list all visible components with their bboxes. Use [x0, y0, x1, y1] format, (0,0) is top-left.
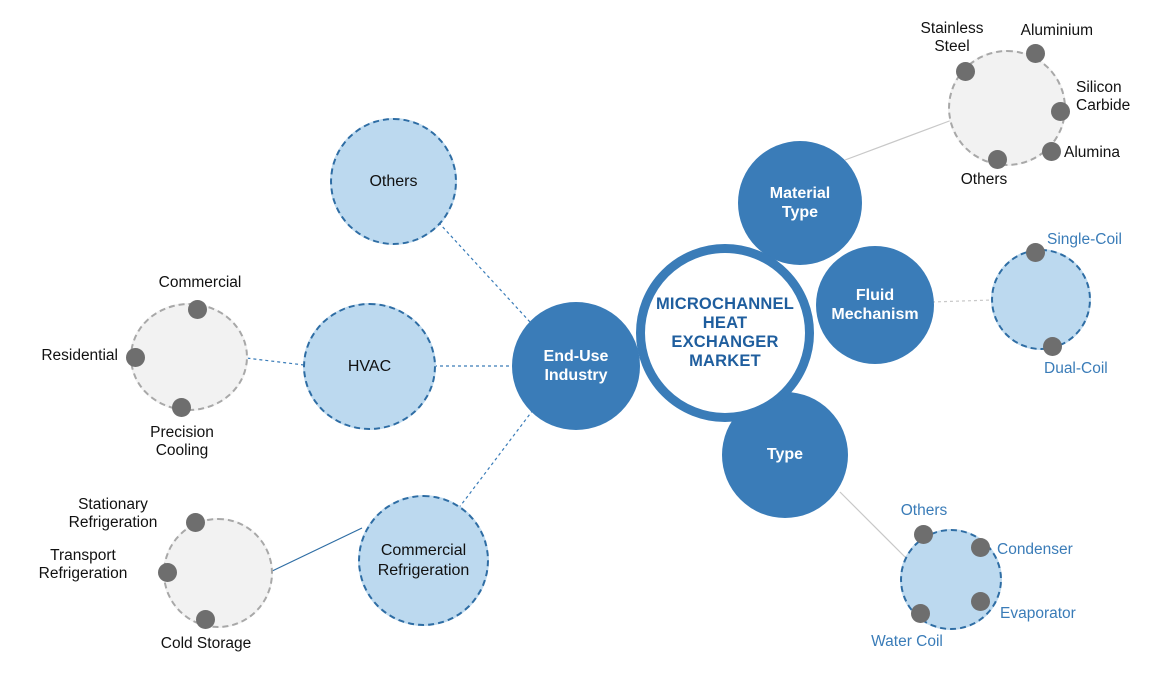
- leaf-dot-stainless-steel[interactable]: [956, 62, 975, 81]
- node-label-type: Type: [767, 445, 803, 464]
- leaf-label-cold-storage: Cold Storage: [146, 635, 266, 653]
- leaf-dot-silicon-carbide[interactable]: [1051, 102, 1070, 121]
- leaf-dot-condenser[interactable]: [971, 538, 990, 557]
- leaf-dot-water-coil[interactable]: [911, 604, 930, 623]
- leaf-dot-precision-cooling[interactable]: [172, 398, 191, 417]
- node-label-fluid-mechanism: Fluid Mechanism: [831, 286, 918, 324]
- leaf-label-precision-cooling: Precision Cooling: [132, 424, 232, 460]
- leaf-dot-aluminium[interactable]: [1026, 44, 1045, 63]
- leaf-dot-transport-refrigeration[interactable]: [158, 563, 177, 582]
- leaf-dot-stationary-refrigeration[interactable]: [186, 513, 205, 532]
- leaf-label-single-coil: Single-Coil: [1047, 231, 1157, 249]
- node-label-others-end-use: Others: [369, 172, 417, 192]
- edge-enduse-commercial-refrigeration: [455, 410, 533, 513]
- edge-material-cluster: [845, 120, 952, 160]
- leaf-dot-cold-storage[interactable]: [196, 610, 215, 629]
- edge-commercial-refrigeration-cluster: [268, 528, 362, 573]
- leaf-dot-commercial[interactable]: [188, 300, 207, 319]
- edge-enduse-others: [440, 224, 530, 322]
- leaf-label-material-others: Others: [934, 171, 1034, 189]
- leaf-dot-type-others[interactable]: [914, 525, 933, 544]
- leaf-label-residential: Residential: [18, 347, 118, 365]
- node-material-type[interactable]: Material Type: [738, 141, 862, 265]
- leaf-label-type-others: Others: [874, 502, 974, 520]
- leaf-label-transport-refrigeration: Transport Refrigeration: [14, 547, 152, 583]
- leaf-label-alumina: Alumina: [1064, 144, 1154, 162]
- leaf-dot-single-coil[interactable]: [1026, 243, 1045, 262]
- edge-fluid-cluster: [932, 300, 992, 302]
- node-others-end-use[interactable]: Others: [330, 118, 457, 245]
- leaf-dot-evaporator[interactable]: [971, 592, 990, 611]
- leaf-dot-material-others[interactable]: [988, 150, 1007, 169]
- hvac-cluster: [130, 303, 248, 411]
- node-end-use-industry[interactable]: End-Use Industry: [512, 302, 640, 430]
- leaf-label-silicon-carbide: Silicon Carbide: [1076, 79, 1168, 115]
- leaf-dot-alumina[interactable]: [1042, 142, 1061, 161]
- node-fluid-mechanism[interactable]: Fluid Mechanism: [816, 246, 934, 364]
- fluid-mechanism-cluster: [991, 249, 1091, 350]
- node-label-material-type: Material Type: [770, 184, 830, 222]
- leaf-dot-residential[interactable]: [126, 348, 145, 367]
- node-label-end-use-industry: End-Use Industry: [544, 347, 609, 385]
- node-label-commercial-refrigeration: Commercial Refrigeration: [378, 541, 470, 581]
- leaf-label-evaporator: Evaporator: [1000, 605, 1110, 623]
- node-commercial-refrigeration[interactable]: Commercial Refrigeration: [358, 495, 489, 626]
- commercial-refrigeration-cluster: [163, 518, 273, 628]
- diagram-canvas: MICROCHANNEL HEAT EXCHANGER MARKET End-U…: [0, 0, 1170, 682]
- leaf-label-commercial: Commercial: [148, 274, 252, 292]
- node-hvac[interactable]: HVAC: [303, 303, 436, 430]
- leaf-label-aluminium: Aluminium: [993, 22, 1093, 40]
- leaf-label-water-coil: Water Coil: [856, 633, 958, 651]
- hub-label: MICROCHANNEL HEAT EXCHANGER MARKET: [656, 295, 794, 372]
- leaf-dot-dual-coil[interactable]: [1043, 337, 1062, 356]
- leaf-label-stationary-refrigeration: Stationary Refrigeration: [46, 496, 180, 532]
- edge-hvac-cluster: [246, 358, 304, 365]
- node-label-hvac: HVAC: [348, 357, 391, 377]
- leaf-label-condenser: Condenser: [997, 541, 1103, 559]
- hub-node-microchannel-heat-exchanger-market[interactable]: MICROCHANNEL HEAT EXCHANGER MARKET: [636, 244, 814, 422]
- leaf-label-stainless-steel: Stainless Steel: [903, 20, 1001, 56]
- leaf-label-dual-coil: Dual-Coil: [1044, 360, 1154, 378]
